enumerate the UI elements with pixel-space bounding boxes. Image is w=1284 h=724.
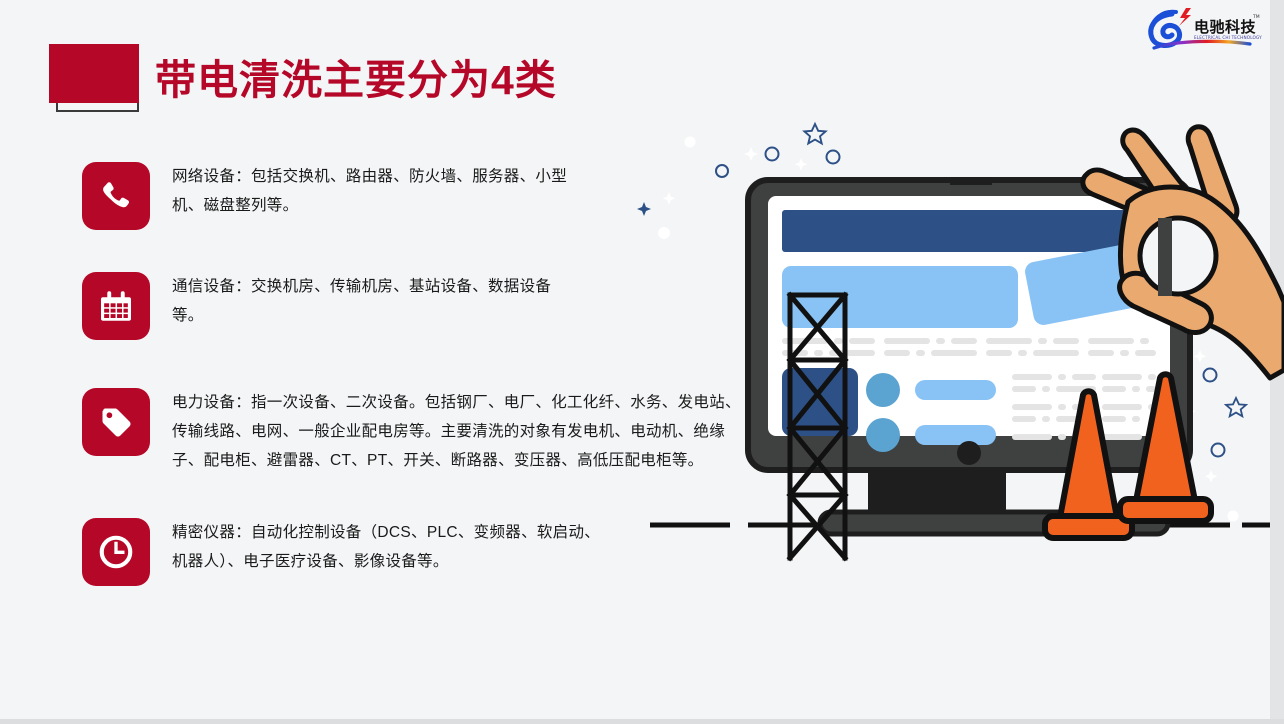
page-title: 带电清洗主要分为4类 <box>155 53 557 107</box>
screen-avatar <box>866 418 900 452</box>
monitor-power-button <box>957 441 981 465</box>
svg-text:ELECTRICAL CHI TECHNOLOGY: ELECTRICAL CHI TECHNOLOGY <box>1194 35 1262 40</box>
logo-mark-icon: 电驰科技 ELECTRICAL CHI TECHNOLOGY TM <box>1142 6 1262 52</box>
svg-text:TM: TM <box>1252 14 1260 20</box>
monitor-neck <box>868 468 1006 516</box>
phone-icon <box>82 162 150 230</box>
list-item: 精密仪器：自动化控制设备（DCS、PLC、变频器、软启动、机器人）、电子医疗设备… <box>82 518 602 586</box>
list-item-text: 通信设备：交换机房、传输机房、基站设备、数据设备等。 <box>172 272 552 330</box>
svg-text:电驰科技: 电驰科技 <box>1194 18 1257 36</box>
page-bottom-edge <box>0 719 1284 724</box>
monitor-hand-cones-tower-illustration <box>630 110 1284 590</box>
screen-header-bar <box>782 210 1156 252</box>
clock-icon <box>82 518 150 586</box>
illustration-svg <box>630 110 1284 590</box>
company-logo: 电驰科技 ELECTRICAL CHI TECHNOLOGY TM <box>1142 6 1262 52</box>
tag-icon <box>82 388 150 456</box>
slide-canvas: 电驰科技 ELECTRICAL CHI TECHNOLOGY TM 带电清洗主要… <box>0 0 1284 724</box>
screen-avatar <box>866 373 900 407</box>
list-item-text: 网络设备：包括交换机、路由器、防火墙、服务器、小型机、磁盘整列等。 <box>172 162 582 220</box>
title-decor-filled-square <box>49 44 139 103</box>
calendar-icon <box>82 272 150 340</box>
list-item: 网络设备：包括交换机、路由器、防火墙、服务器、小型机、磁盘整列等。 <box>82 162 582 230</box>
list-item-text: 精密仪器：自动化控制设备（DCS、PLC、变频器、软启动、机器人）、电子医疗设备… <box>172 518 602 576</box>
list-item: 通信设备：交换机房、传输机房、基站设备、数据设备等。 <box>82 272 552 340</box>
